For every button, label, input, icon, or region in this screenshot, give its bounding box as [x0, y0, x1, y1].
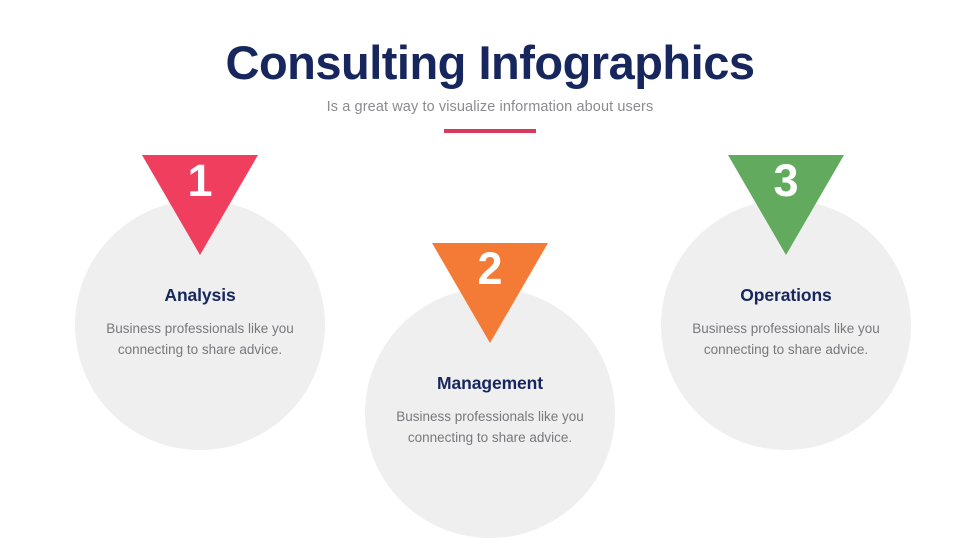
infographic-slide: Consulting Infographics Is a great way t… — [0, 0, 980, 551]
card-operations[interactable]: 3 Operations Business professionals like… — [661, 200, 911, 450]
card-body: Operations Business professionals like y… — [673, 285, 899, 361]
step-number: 2 — [432, 246, 548, 291]
card-group: 1 Analysis Business professionals like y… — [0, 0, 980, 551]
step-badge: 3 — [728, 155, 844, 255]
step-badge: 1 — [142, 155, 258, 255]
card-body: Analysis Business professionals like you… — [87, 285, 313, 361]
step-number: 1 — [142, 158, 258, 203]
card-heading: Operations — [673, 285, 899, 306]
card-description: Business professionals like you connecti… — [673, 319, 899, 361]
card-description: Business professionals like you connecti… — [87, 319, 313, 361]
card-management[interactable]: 2 Management Business professionals like… — [365, 288, 615, 538]
card-heading: Management — [377, 373, 603, 394]
card-analysis[interactable]: 1 Analysis Business professionals like y… — [75, 200, 325, 450]
card-heading: Analysis — [87, 285, 313, 306]
card-body: Management Business professionals like y… — [377, 373, 603, 449]
step-badge: 2 — [432, 243, 548, 343]
card-description: Business professionals like you connecti… — [377, 407, 603, 449]
step-number: 3 — [728, 158, 844, 203]
